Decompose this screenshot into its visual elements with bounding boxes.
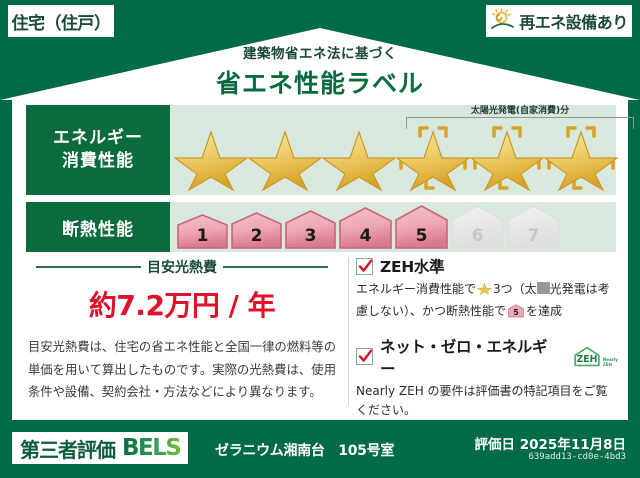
energy-performance-label: エネルギー 消費性能	[26, 105, 170, 195]
net-zero-description: Nearly ZEH の要件は評価書の特記項目をご覧ください。	[356, 382, 618, 422]
zeh-standard-block: ZEH水準 エネルギー消費性能で3つ（太光発電は考慮しない）、かつ断熱性能で5を…	[356, 255, 618, 325]
net-zero-energy-block: ネット・ゼロ・エネルギー ZEH Nearly ZEH	[356, 335, 618, 422]
zeh-desc-part1: エネルギー消費性能で	[356, 282, 476, 296]
title-subtitle: 建築物省エネ法に基づく	[0, 42, 640, 62]
net-zero-checkbox[interactable]	[356, 348, 373, 365]
heading-rule-right	[223, 266, 328, 268]
insulation-level-3-number: 3	[305, 226, 317, 250]
insulation-level-3: 3	[284, 210, 337, 250]
building-name: ゼラニウム湘南台 105号室	[215, 440, 394, 460]
insulation-level-7-number: 7	[528, 226, 540, 250]
insulation-level-5-number: 5	[416, 226, 428, 250]
insulation-label-text: 断熱性能	[62, 215, 134, 240]
insulation-level-1-number: 1	[197, 226, 209, 250]
zeh-standard-heading: ZEH水準	[356, 255, 618, 277]
zeh-logo: ZEH Nearly ZEH	[572, 346, 618, 368]
page-title: 省エネ性能ラベル	[0, 64, 640, 100]
insulation-level-scale: 1 2 3	[176, 204, 562, 250]
renewable-badge-text: 再エネ設備あり	[519, 9, 628, 33]
star-rating	[174, 121, 620, 193]
energy-performance-row: エネルギー 消費性能 太陽光発電(自家消費)分	[26, 105, 616, 195]
label-title-block: 建築物省エネ法に基づく 省エネ性能ラベル	[0, 42, 640, 100]
utility-cost-description: 目安光熱費は、住宅の省エネ性能と全国一律の燃料等の単価を用いて算出したものです。…	[22, 336, 342, 404]
heading-rule-left	[36, 266, 141, 268]
column-divider	[348, 257, 349, 405]
utility-cost-heading-text: 目安光熱費	[147, 257, 217, 277]
bels-logo-jp: 第三者評価	[20, 434, 115, 463]
zeh-logo-subtext: Nearly ZEH	[603, 358, 618, 367]
star-3	[322, 122, 396, 192]
utility-cost-heading: 目安光熱費	[22, 255, 342, 277]
insulation-level-2: 2	[230, 212, 283, 250]
star-2	[248, 122, 322, 192]
bels-logo-en: BELS	[122, 435, 180, 461]
label-card: エネルギー 消費性能 太陽光発電(自家消費)分	[12, 100, 628, 420]
redacted-block	[537, 282, 550, 294]
star-1	[174, 122, 248, 192]
insulation-rating-body: 1 2 3	[170, 202, 616, 252]
label-footer: 第三者評価 BELS ゼラニウム湘南台 105号室 評価日 2025年11月8日…	[0, 420, 640, 478]
star-4-solar	[396, 122, 470, 192]
star-6-solar	[544, 122, 618, 192]
zeh-desc-star-count: 3つ（太	[493, 282, 537, 296]
insulation-level-2-number: 2	[251, 226, 263, 250]
insulation-performance-label: 断熱性能	[26, 202, 170, 252]
inline-star-icon	[477, 284, 492, 298]
net-zero-heading: ネット・ゼロ・エネルギー ZEH Nearly ZEH	[356, 335, 618, 379]
housing-type-text: 住宅（住戸）	[12, 9, 111, 34]
evaluation-id: 639add13-cd0e-4bd3	[528, 452, 626, 462]
energy-rating-body: 太陽光発電(自家消費)分	[170, 105, 616, 195]
housing-type-badge: 住宅（住戸）	[8, 5, 114, 37]
zeh-desc-part3: を達成	[526, 304, 562, 318]
zeh-standard-description: エネルギー消費性能で3つ（太光発電は考慮しない）、かつ断熱性能で5を達成	[356, 280, 618, 325]
inline-insulation-badge: 5	[508, 304, 524, 325]
insulation-level-4-number: 4	[360, 226, 372, 250]
svg-text:ZEH: ZEH	[576, 354, 597, 365]
zeh-column: ZEH水準 エネルギー消費性能で3つ（太光発電は考慮しない）、かつ断熱性能で5を…	[356, 255, 618, 431]
label-lower-section: 目安光熱費 約7.2万円 / 年 目安光熱費は、住宅の省エネ性能と全国一律の燃料…	[12, 255, 628, 415]
star-5-solar	[470, 122, 544, 192]
insulation-level-4: 4	[338, 207, 393, 250]
bels-logo: 第三者評価 BELS	[12, 432, 188, 464]
insulation-level-6: 6	[450, 205, 505, 250]
energy-label-line2: 消費性能	[62, 150, 134, 173]
renewable-equipment-badge: 再エネ設備あり	[486, 5, 632, 37]
evaluation-date: 評価日 2025年11月8日	[475, 433, 626, 453]
utility-cost-value: 約7.2万円 / 年	[22, 284, 342, 324]
insulation-level-1: 1	[176, 214, 229, 250]
svg-text:5: 5	[513, 308, 518, 317]
zeh-standard-checkbox[interactable]	[356, 258, 373, 275]
net-zero-title: ネット・ゼロ・エネルギー	[380, 335, 561, 379]
insulation-performance-row: 断熱性能	[26, 202, 616, 252]
zeh-logo-sub-line2: ZEH	[603, 362, 612, 367]
solar-bracket-note: 太陽光発電(自家消費)分	[406, 103, 634, 116]
utility-cost-column: 目安光熱費 約7.2万円 / 年 目安光熱費は、住宅の省エネ性能と全国一律の燃料…	[22, 255, 342, 404]
insulation-level-6-number: 6	[472, 226, 484, 250]
sun-renewable-icon	[490, 7, 516, 35]
energy-label-line1: エネルギー	[53, 127, 143, 150]
zeh-standard-title: ZEH水準	[380, 255, 444, 277]
insulation-level-7: 7	[506, 205, 561, 250]
insulation-level-5: 5	[394, 205, 449, 250]
bels-energy-label: 住宅（住戸） 再エネ設備あり 建築物省エネ法に基づく 省エネ性能ラベル	[0, 0, 640, 478]
